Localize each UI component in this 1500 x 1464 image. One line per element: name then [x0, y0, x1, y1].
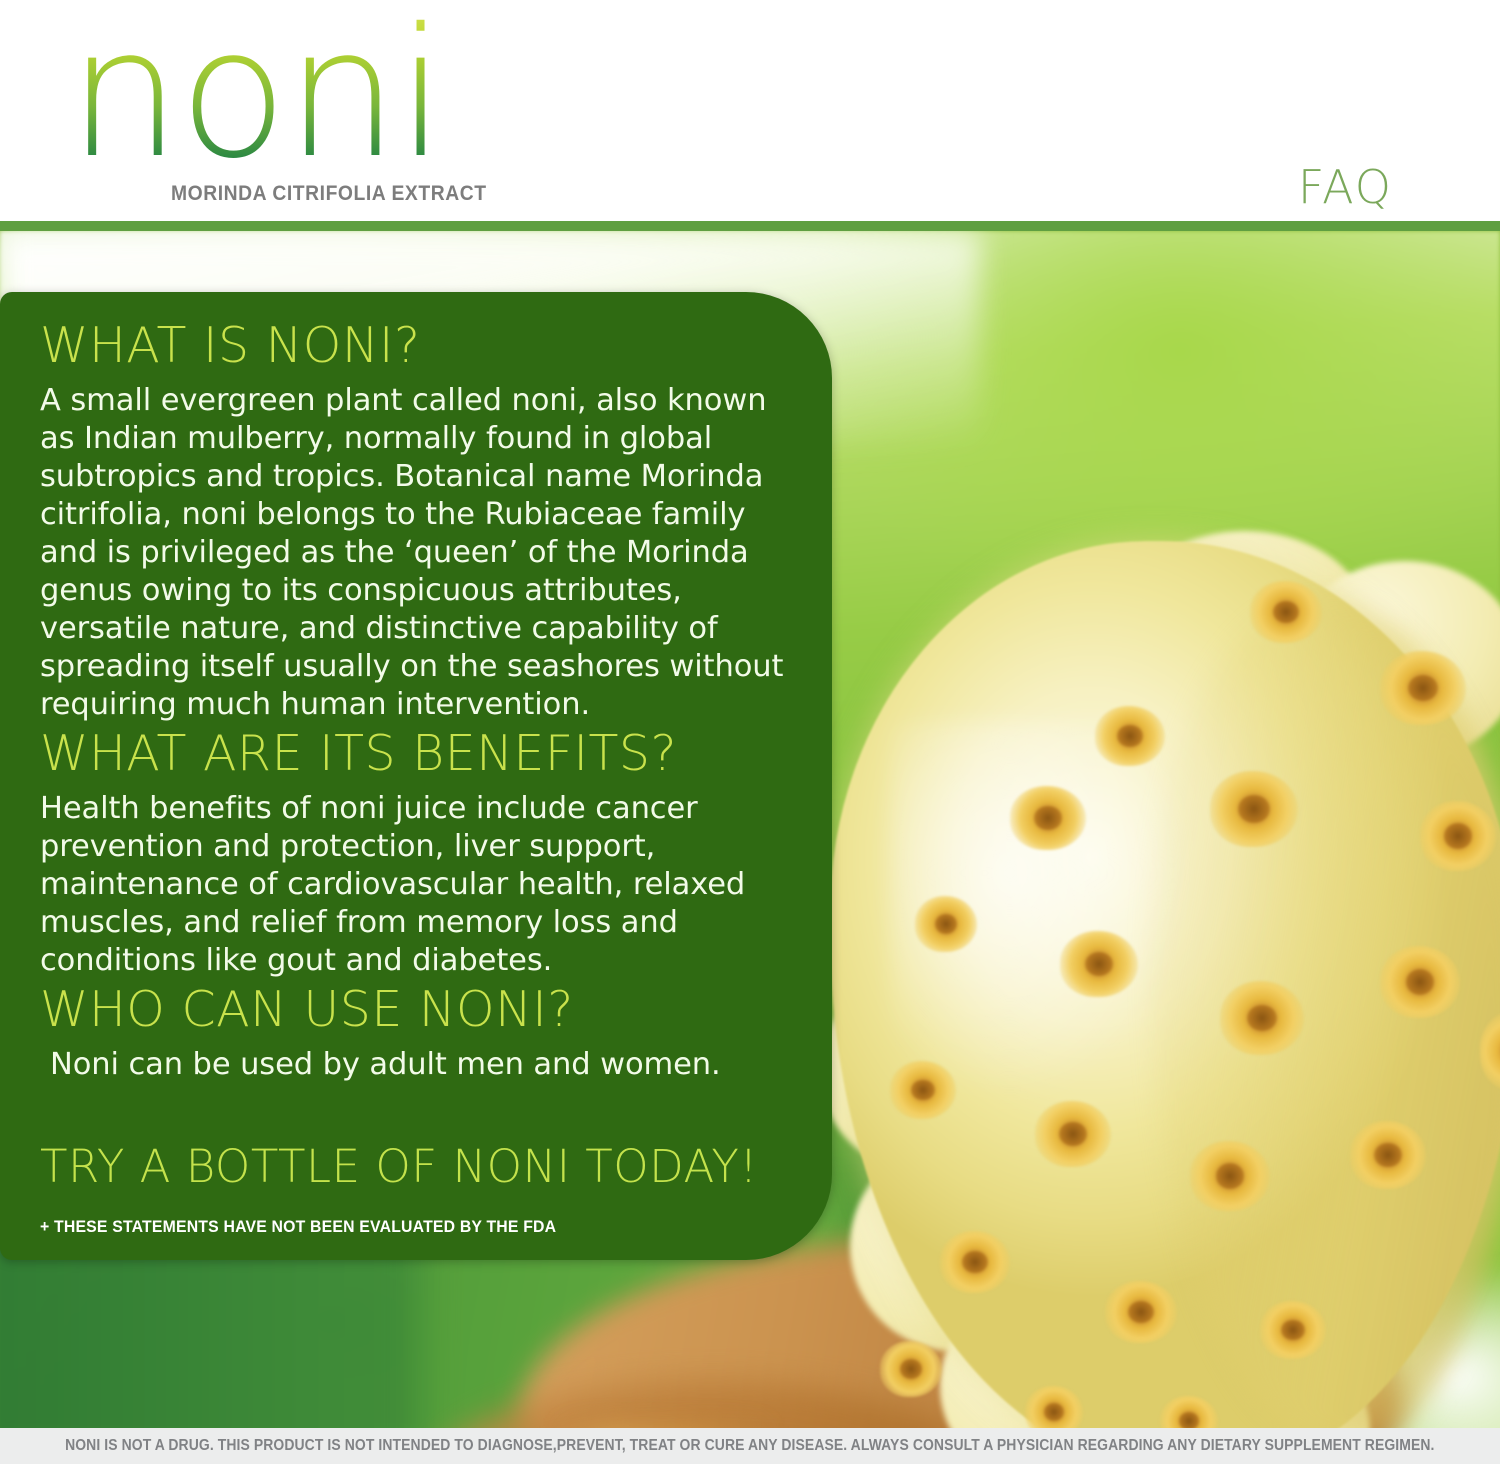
faq-body-benefits: Health benefits of noni juice include ca… [40, 790, 800, 980]
brand-logo: noni MORINDA CITRIFOLIA EXTRACT [68, 14, 498, 214]
fruit-eye-spot [1190, 1141, 1270, 1211]
fruit-eye-spot [1260, 1301, 1326, 1359]
fruit-eye-spot [1060, 931, 1138, 997]
fruit-eye-spot [1350, 1121, 1426, 1189]
fruit-eye-spot [1210, 771, 1298, 847]
fruit-eye-spot [880, 1341, 942, 1397]
fruit-eye-spot [1035, 1101, 1111, 1167]
fruit-eye-spot [1380, 946, 1460, 1018]
faq-heading-benefits: WHAT ARE ITS BENEFITS? [40, 724, 800, 784]
fruit-eye-spot [940, 1231, 1010, 1293]
faq-panel: WHAT IS NONI? A small evergreen plant ca… [0, 292, 832, 1260]
header-divider [0, 221, 1500, 231]
faq-body-what-is-noni: A small evergreen plant called noni, als… [40, 382, 800, 724]
cta-try-a-bottle[interactable]: TRY A BOTTLE OF NONI TODAY! [40, 1140, 800, 1193]
noni-fruit [820, 541, 1500, 1428]
faq-panel-content: WHAT IS NONI? A small evergreen plant ca… [40, 316, 800, 1237]
page-header: noni MORINDA CITRIFOLIA EXTRACT FAQ [0, 0, 1500, 221]
fruit-eye-spot [1105, 1281, 1177, 1343]
brand-tagline: MORINDA CITRIFOLIA EXTRACT [171, 182, 487, 206]
fruit-eye-spot [915, 896, 977, 952]
fruit-eye-spot [1380, 651, 1466, 725]
faq-body-who-can-use: Noni can be used by adult men and women. [50, 1046, 800, 1084]
fruit-eye-spot [1095, 706, 1165, 766]
brand-wordmark: noni [68, 14, 498, 182]
faq-heading-who-can-use: WHO CAN USE NONI? [40, 980, 800, 1040]
fruit-eye-spot [1220, 981, 1304, 1055]
section-label-faq: FAQ [1298, 160, 1393, 214]
fruit-eye-spot [1250, 581, 1322, 643]
footer-disclaimer-text: NONI IS NOT A DRUG. THIS PRODUCT IS NOT … [65, 1437, 1434, 1455]
faq-infographic-page: noni MORINDA CITRIFOLIA EXTRACT FAQ [0, 0, 1500, 1464]
fruit-eye-spot [1010, 786, 1086, 850]
faq-heading-what-is-noni: WHAT IS NONI? [40, 316, 800, 376]
fruit-eye-spot [1420, 801, 1496, 871]
fda-disclaimer: + THESE STATEMENTS HAVE NOT BEEN EVALUAT… [40, 1217, 747, 1237]
page-footer: NONI IS NOT A DRUG. THIS PRODUCT IS NOT … [0, 1428, 1500, 1464]
fruit-eye-spot [890, 1061, 956, 1119]
